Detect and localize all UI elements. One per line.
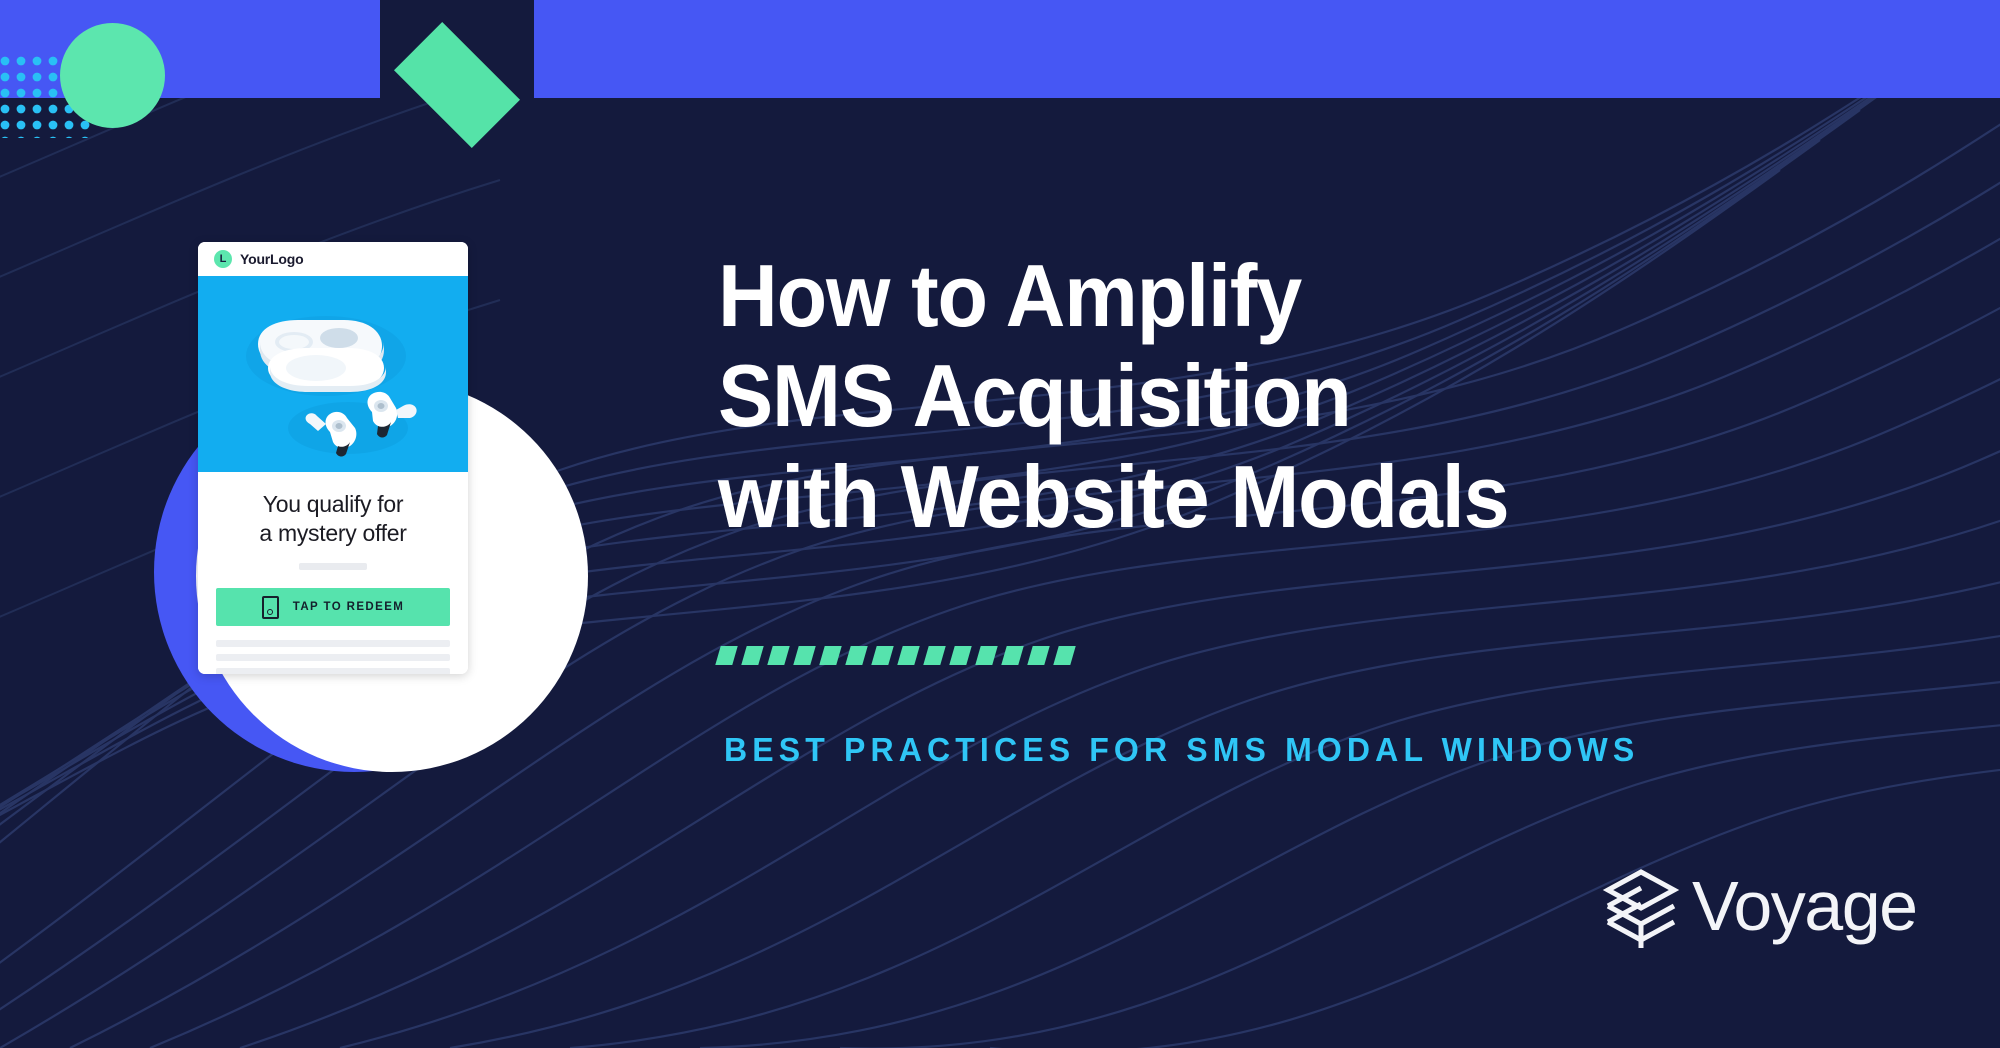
headline-line-3: with Website Modals (718, 447, 1884, 547)
tap-to-redeem-button[interactable]: TAP TO REDEEM (216, 588, 450, 626)
hero-mockup: L YourLogo (118, 352, 588, 822)
headline-line-1: How to Amplify (718, 246, 1884, 346)
brand-name: Voyage (1692, 871, 1917, 941)
headline-block: How to Amplify SMS Acquisition with Webs… (718, 246, 1958, 547)
green-diamond-icon (380, 30, 534, 142)
brand-logo: Voyage (1602, 866, 1917, 954)
logo-text: YourLogo (240, 251, 303, 267)
top-indigo-band (0, 0, 2000, 98)
product-photo (198, 276, 468, 472)
modal-headline-line1: You qualify for (198, 490, 468, 519)
stacked-layers-icon (1602, 866, 1680, 954)
modal-headline-line2: a mystery offer (198, 519, 468, 548)
tap-to-redeem-label: TAP TO REDEEM (293, 601, 405, 613)
mobile-phone-icon (262, 596, 279, 619)
modal-body: You qualify for a mystery offer TAP TO R… (198, 472, 468, 674)
modal-header: L YourLogo (198, 242, 468, 276)
logo-badge: L (214, 250, 232, 268)
headline-line-2: SMS Acquisition (718, 346, 1884, 446)
page-title: How to Amplify SMS Acquisition with Webs… (718, 246, 1884, 547)
modal-subtext-placeholder (299, 563, 367, 570)
dashed-divider (718, 646, 1088, 676)
sms-modal-card[interactable]: L YourLogo (198, 242, 468, 674)
poster-canvas: L YourLogo (0, 0, 2000, 1048)
subtitle: BEST PRACTICES FOR SMS MODAL WINDOWS (724, 731, 1639, 769)
green-circle-icon (60, 23, 165, 128)
modal-footer-placeholder-lines (198, 626, 468, 674)
